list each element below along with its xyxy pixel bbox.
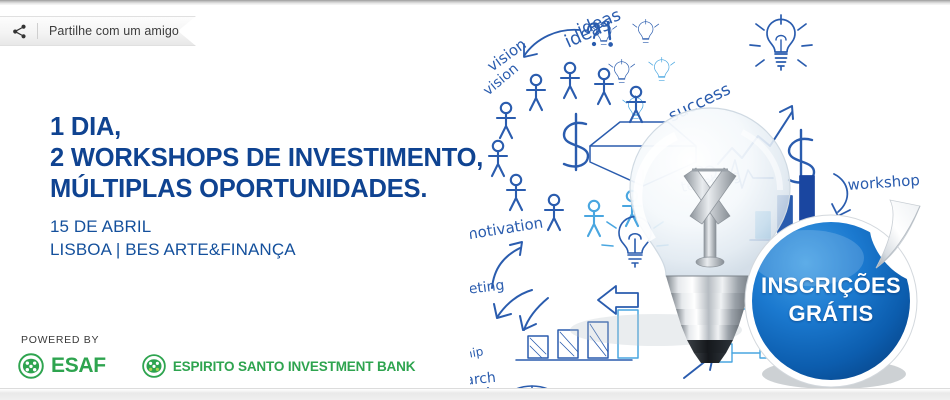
headline-line-2: 2 WORKSHOPS DE INVESTIMENTO, [50,143,483,174]
banner-top-edge [0,0,950,5]
svg-text:workshop: workshop [847,171,920,194]
svg-text:marketing: marketing [470,277,505,302]
esaf-logo-text: ESAF [51,354,106,378]
espirito-santo-logo-text: ESPIRITO SANTO INVESTMENT BANK [173,359,416,374]
esaf-logo[interactable]: ESAF [18,353,106,379]
banner-bottom-edge [0,388,950,400]
badge-sticker-shape [742,212,920,390]
esaf-circle-mark [18,353,44,379]
svg-text:leadership: leadership [470,344,484,369]
headline-line-1: 1 DIA, [50,112,483,143]
promo-banner: ideas [0,0,950,400]
share-icon [12,24,27,39]
logo-row: ESAF ESPIRITO SANTO INVESTMENT BANK [18,353,415,379]
free-registration-badge[interactable]: INSCRIÇÕES GRÁTIS [742,212,920,390]
event-venue: LISBOA | BES ARTE&FINANÇA [50,238,483,261]
espirito-santo-investment-bank-logo[interactable]: ESPIRITO SANTO INVESTMENT BANK [142,354,416,378]
share-with-friend-button[interactable]: Partilhe com um amigo [0,16,200,46]
footer-logos: POWERED BY ESAF [18,334,415,379]
powered-by-label: POWERED BY [21,334,415,346]
event-date: 15 DE ABRIL [50,215,483,238]
share-label: Partilhe com um amigo [49,24,179,38]
headline-line-3: MÚLTIPLAS OPORTUNIDADES. [50,174,483,205]
share-divider [37,23,38,39]
espirito-santo-circle-mark [142,354,166,378]
promo-copy: 1 DIA, 2 WORKSHOPS DE INVESTIMENTO, MÚLT… [50,112,483,261]
